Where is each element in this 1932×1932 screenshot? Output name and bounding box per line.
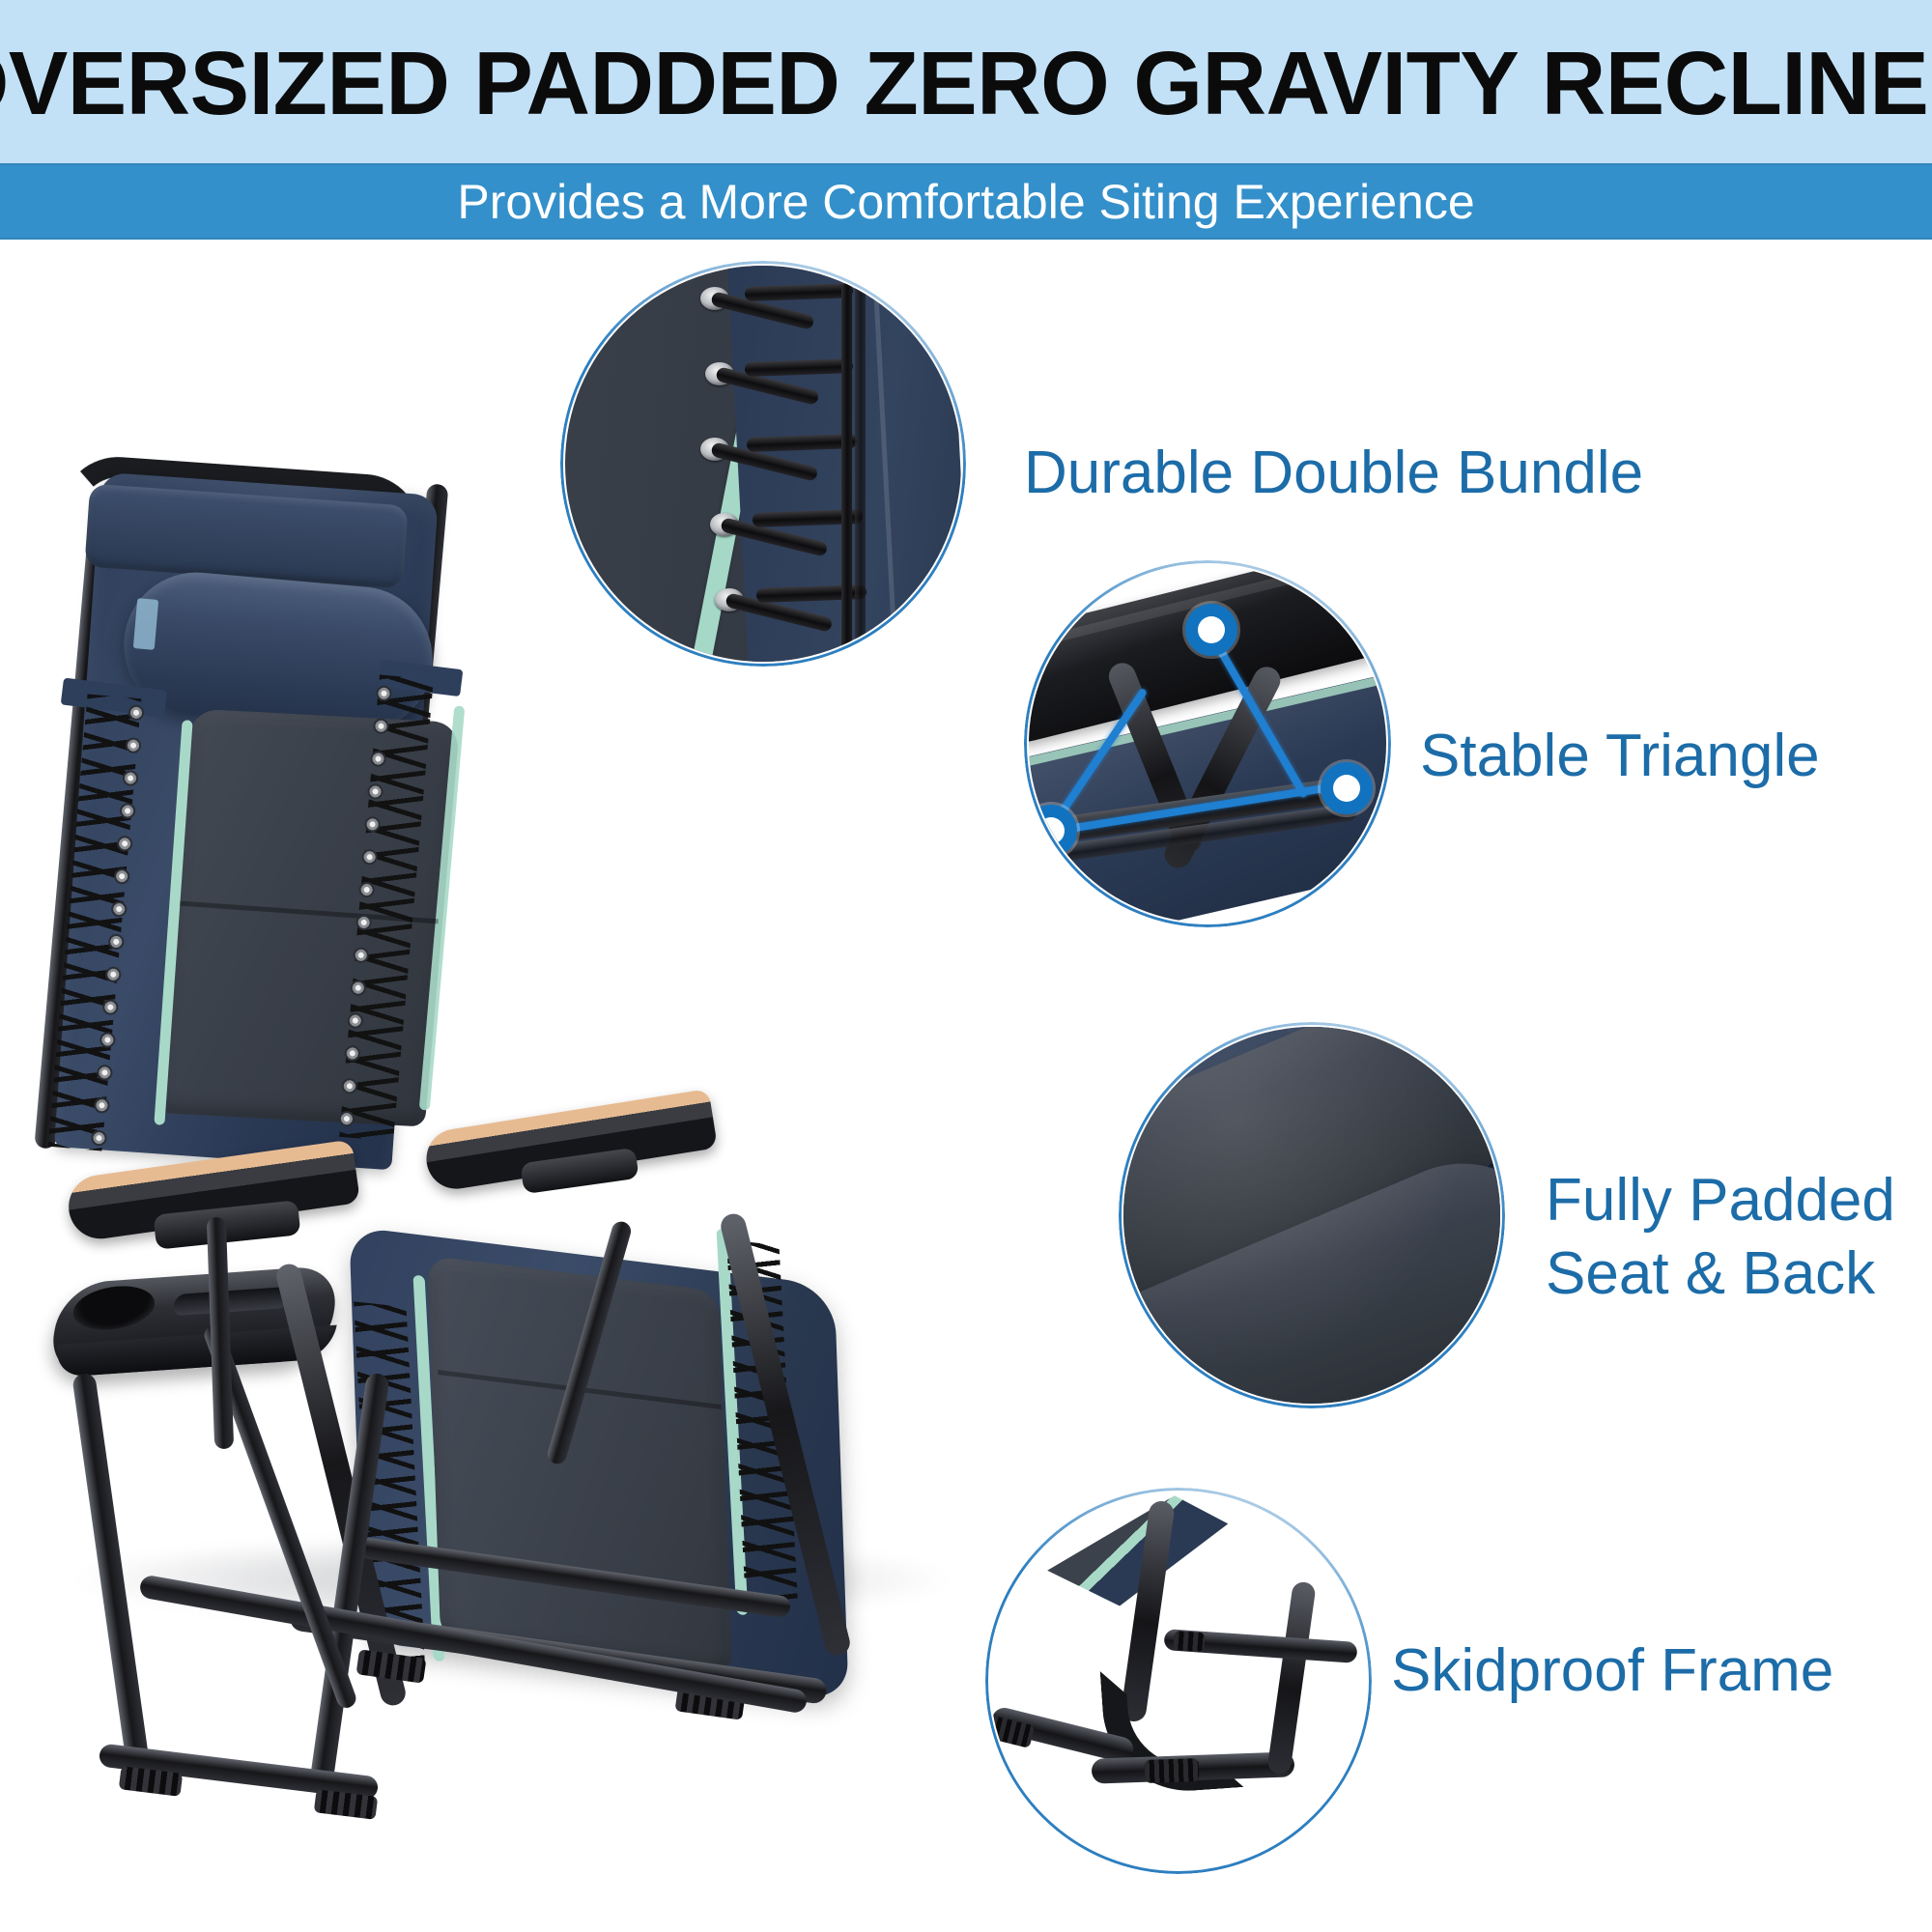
chair-seat-padding-charcoal bbox=[427, 1256, 731, 1678]
feature-label-fully-padded: Fully Padded Seat & Back bbox=[1546, 1164, 1895, 1310]
detail-fabric-highlight bbox=[1123, 1027, 1500, 1404]
feature-image-durable-double-bundle bbox=[565, 266, 961, 662]
header-title-band: OVERSIZED PADDED ZERO GRAVITY RECLINER bbox=[0, 0, 1932, 163]
infographic-canvas: OVERSIZED PADDED ZERO GRAVITY RECLINER P… bbox=[0, 0, 1932, 1932]
feature-circle-fully-padded bbox=[1119, 1022, 1505, 1408]
product-image bbox=[39, 541, 1082, 1642]
page-subtitle: Provides a More Comfortable Siting Exper… bbox=[457, 178, 1474, 226]
feature-image-stable-triangle bbox=[1029, 565, 1386, 923]
page-title: OVERSIZED PADDED ZERO GRAVITY RECLINER bbox=[0, 35, 1932, 128]
feature-image-skidproof-frame bbox=[990, 1492, 1367, 1869]
chair-support-strut-left bbox=[207, 1217, 234, 1450]
chair-headrest-label-tag bbox=[133, 598, 158, 650]
skidproof-foot-grip bbox=[1173, 1631, 1205, 1652]
feature-circle-durable-double-bundle bbox=[560, 261, 966, 667]
feature-image-fully-padded bbox=[1123, 1027, 1500, 1404]
bungee-cord-vertical bbox=[855, 283, 866, 662]
skidproof-foot-grip bbox=[1145, 1758, 1200, 1783]
feature-circle-stable-triangle bbox=[1024, 560, 1391, 927]
triangle-joint-marker-top bbox=[1185, 604, 1237, 656]
feature-label-stable-triangle: Stable Triangle bbox=[1420, 720, 1820, 793]
bungee-cord-vertical bbox=[841, 283, 852, 662]
triangle-joint-marker-right bbox=[1321, 762, 1373, 814]
header-subtitle-band: Provides a More Comfortable Siting Exper… bbox=[0, 163, 1932, 240]
feature-label-durable-double-bundle: Durable Double Bundle bbox=[1024, 437, 1643, 510]
feature-circle-skidproof-frame bbox=[985, 1488, 1372, 1874]
feature-label-skidproof-frame: Skidproof Frame bbox=[1391, 1634, 1833, 1708]
